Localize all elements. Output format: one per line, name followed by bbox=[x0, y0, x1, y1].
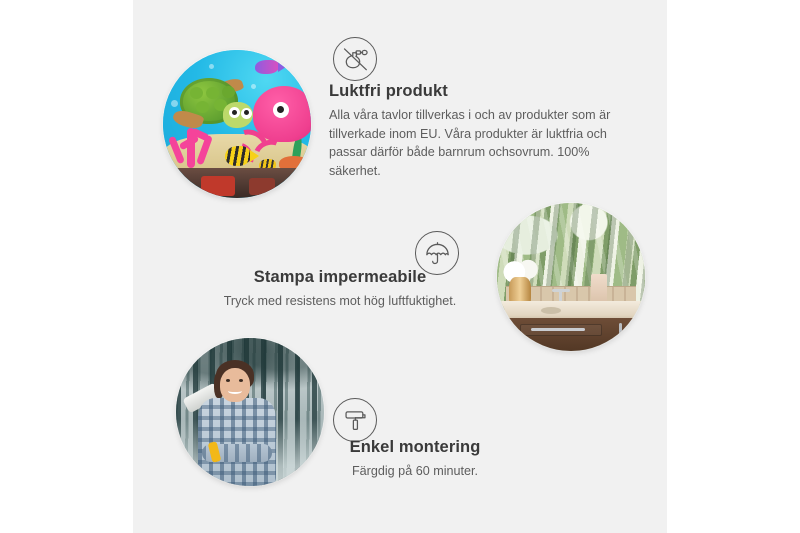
drawer-handle bbox=[531, 328, 585, 331]
turtle-eye bbox=[229, 107, 240, 118]
feature-description: Tryck med resistens mot hög luftfuktighe… bbox=[205, 292, 475, 311]
soap-dish bbox=[541, 307, 561, 314]
promo-graphic: Luktfri produkt Alla våra tavlor tillver… bbox=[0, 0, 800, 533]
feature-title: Enkel montering bbox=[300, 438, 530, 457]
octopus-eye bbox=[273, 102, 289, 118]
feature-block-odour-free: Luktfri produkt Alla våra tavlor tillver… bbox=[329, 82, 629, 181]
no-perfume-icon bbox=[333, 37, 377, 81]
feature-image-underwater-kids-mural bbox=[163, 50, 311, 198]
paint-roller-icon bbox=[333, 398, 377, 442]
wooden-cabinet bbox=[503, 318, 645, 351]
room-foreground-strip bbox=[163, 168, 311, 198]
yellow-fish-icon bbox=[225, 146, 251, 166]
coral-icon bbox=[169, 122, 223, 168]
feature-description: Alla våra tavlor tillverkas i och av pro… bbox=[329, 106, 629, 181]
feature-image-bathroom-leaf-wallpaper bbox=[497, 203, 645, 351]
countertop bbox=[497, 301, 645, 320]
woman-face bbox=[220, 368, 250, 402]
door-handle bbox=[619, 323, 622, 340]
feature-title: Luktfri produkt bbox=[329, 82, 629, 101]
feature-block-easy-mounting: Enkel montering Färgdig på 60 minuter. bbox=[300, 438, 530, 481]
feature-description: Färgdig på 60 minuter. bbox=[300, 462, 530, 481]
bubble-icon bbox=[251, 84, 256, 89]
bubble-icon bbox=[209, 64, 214, 69]
bubble-icon bbox=[171, 100, 178, 107]
feature-title: Stampa impermeabile bbox=[205, 268, 475, 287]
purple-fish-icon bbox=[255, 60, 279, 74]
woman-eyes bbox=[226, 379, 230, 382]
woman-smile bbox=[228, 388, 242, 394]
feature-block-waterproof-print: Stampa impermeabile Tryck med resistens … bbox=[205, 268, 475, 311]
